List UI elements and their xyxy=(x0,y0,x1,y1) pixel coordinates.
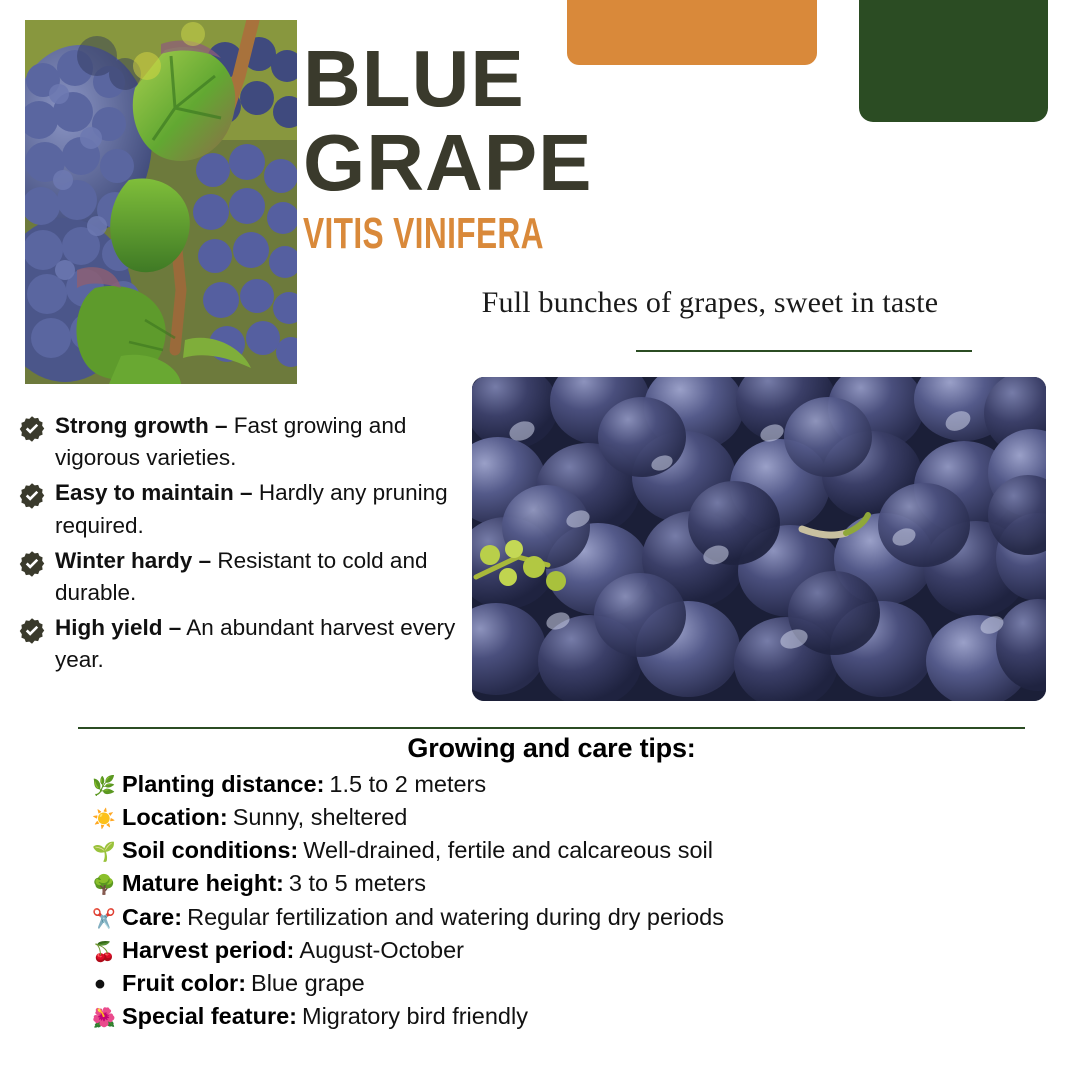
feature-text: Winter hardy – Resistant to cold and dur… xyxy=(55,545,478,609)
scientific-name: VITIS VINIFERA xyxy=(303,209,807,259)
tip-label: Location: xyxy=(122,801,228,834)
tagline: Full bunches of grapes, sweet in taste xyxy=(430,286,990,320)
tip-label: Care: xyxy=(122,901,182,934)
tips-heading: Growing and care tips: xyxy=(78,733,1025,764)
tip-item: ☀️Location:Sunny, sheltered xyxy=(92,801,1052,834)
check-badge-icon xyxy=(18,482,46,510)
tip-value: Migratory bird friendly xyxy=(302,1000,528,1033)
tips-divider xyxy=(78,727,1025,729)
seedling-icon: 🌱 xyxy=(92,839,117,866)
sun-icon: ☀️ xyxy=(92,806,117,833)
tree-icon: 🌳 xyxy=(92,872,117,899)
feature-label: Easy to maintain – xyxy=(55,480,253,505)
tip-item: 🌺Special feature:Migratory bird friendly xyxy=(92,1000,1052,1033)
feature-label: Winter hardy – xyxy=(55,548,211,573)
feature-item: Winter hardy – Resistant to cold and dur… xyxy=(18,545,478,609)
feature-item: Easy to maintain – Hardly any pruning re… xyxy=(18,477,478,541)
tip-value: Sunny, sheltered xyxy=(233,801,408,834)
poster-canvas: BLUE GRAPE VITIS VINIFERA Full bunches o… xyxy=(0,0,1080,1080)
tip-label: Harvest period: xyxy=(122,934,294,967)
tips-list: 🌿Planting distance:1.5 to 2 meters☀️Loca… xyxy=(92,768,1052,1033)
feature-label: Strong growth – xyxy=(55,413,228,438)
tip-item: 🌿Planting distance:1.5 to 2 meters xyxy=(92,768,1052,801)
cherries-icon: 🍒 xyxy=(92,939,117,966)
grape-closeup-photo xyxy=(472,377,1046,701)
tip-value: 3 to 5 meters xyxy=(289,867,426,900)
tip-value: Regular fertilization and watering durin… xyxy=(187,901,724,934)
tip-label: Planting distance: xyxy=(122,768,324,801)
page-title-line-2: GRAPE xyxy=(303,124,1003,202)
tip-item: ⚫Fruit color:Blue grape xyxy=(92,967,1052,1000)
tip-item: 🌱Soil conditions:Well-drained, fertile a… xyxy=(92,834,1052,867)
feature-label: High yield – xyxy=(55,615,181,640)
herb-icon: 🌿 xyxy=(92,773,117,800)
feature-item: High yield – An abundant harvest every y… xyxy=(18,612,478,676)
tip-item: 🌳Mature height:3 to 5 meters xyxy=(92,867,1052,900)
hero-vineyard-photo xyxy=(25,20,297,384)
tip-value: August-October xyxy=(299,934,464,967)
hibiscus-icon: 🌺 xyxy=(92,1005,117,1032)
tip-value: 1.5 to 2 meters xyxy=(329,768,486,801)
tip-value: Blue grape xyxy=(251,967,365,1000)
black-circle-icon: ⚫ xyxy=(92,972,117,999)
feature-list: Strong growth – Fast growing and vigorou… xyxy=(18,410,478,679)
check-badge-icon xyxy=(18,617,46,645)
feature-item: Strong growth – Fast growing and vigorou… xyxy=(18,410,478,474)
tip-item: ✂️Care:Regular fertilization and waterin… xyxy=(92,901,1052,934)
tip-item: 🍒Harvest period:August-October xyxy=(92,934,1052,967)
feature-text: Strong growth – Fast growing and vigorou… xyxy=(55,410,478,474)
title-block: BLUE GRAPE VITIS VINIFERA xyxy=(303,40,1003,259)
check-badge-icon xyxy=(18,415,46,443)
page-title-line-1: BLUE xyxy=(303,40,1003,118)
tip-label: Mature height: xyxy=(122,867,284,900)
check-badge-icon xyxy=(18,550,46,578)
tip-label: Fruit color: xyxy=(122,967,246,1000)
feature-text: Easy to maintain – Hardly any pruning re… xyxy=(55,477,478,541)
tip-label: Special feature: xyxy=(122,1000,297,1033)
tip-value: Well-drained, fertile and calcareous soi… xyxy=(303,834,713,867)
tagline-divider xyxy=(636,350,972,352)
tip-label: Soil conditions: xyxy=(122,834,298,867)
feature-text: High yield – An abundant harvest every y… xyxy=(55,612,478,676)
scissors-icon: ✂️ xyxy=(92,906,117,933)
